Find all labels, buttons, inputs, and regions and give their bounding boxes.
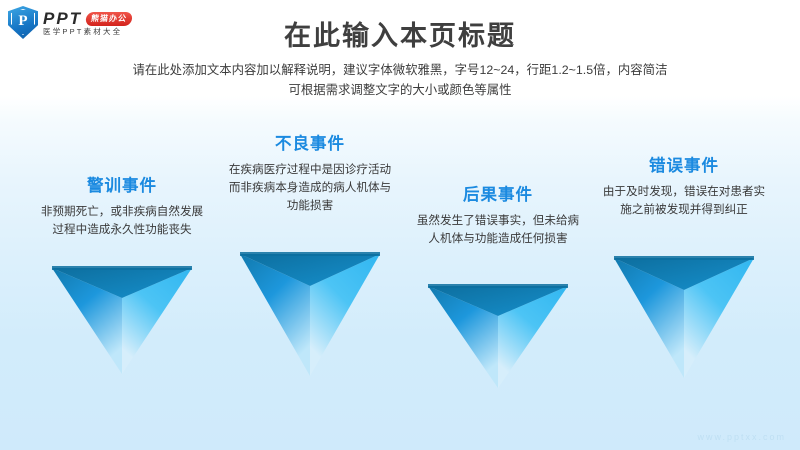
item-body-1: 非预期死亡，或非疾病自然发展过程中造成永久性功能丧失 [27,203,217,239]
pyramid-shape-4 [614,254,754,380]
subtitle-line-2: 可根据需求调整文字的大小或颜色等属性 [0,80,800,100]
item-block-3[interactable]: 后果事件 虽然发生了错误事实，但未给病人机体与功能造成任何损害 [403,181,593,248]
pyramid-shape-2 [240,250,380,378]
pyramid-shape-1 [52,264,192,376]
pyramid-shape-3 [428,282,568,390]
subtitle-line-1: 请在此处添加文本内容加以解释说明，建议字体微软雅黑，字号12~24，行距1.2~… [0,60,800,80]
item-block-4[interactable]: 错误事件 由于及时发现，错误在对患者实施之前被发现并得到纠正 [589,152,779,219]
page-title: 在此输入本页标题 [0,14,800,53]
item-title-2: 不良事件 [215,130,405,154]
page-subtitle: 请在此处添加文本内容加以解释说明，建议字体微软雅黑，字号12~24，行距1.2~… [0,60,800,100]
item-block-1[interactable]: 警训事件 非预期死亡，或非疾病自然发展过程中造成永久性功能丧失 [27,172,217,239]
watermark: www.pptxx.com [697,432,786,442]
slide-canvas: P PPT 熊猫办公 医学PPT素材大全 在此输入本页标题 请在此处添加文本内容… [0,0,800,450]
item-title-1: 警训事件 [27,172,217,196]
item-body-3: 虽然发生了错误事实，但未给病人机体与功能造成任何损害 [403,212,593,248]
item-title-4: 错误事件 [589,152,779,176]
item-title-3: 后果事件 [403,181,593,205]
item-body-4: 由于及时发现，错误在对患者实施之前被发现并得到纠正 [589,183,779,219]
item-block-2[interactable]: 不良事件 在疾病医疗过程中是因诊疗活动而非疾病本身造成的病人机体与功能损害 [215,130,405,215]
item-body-2: 在疾病医疗过程中是因诊疗活动而非疾病本身造成的病人机体与功能损害 [215,161,405,215]
